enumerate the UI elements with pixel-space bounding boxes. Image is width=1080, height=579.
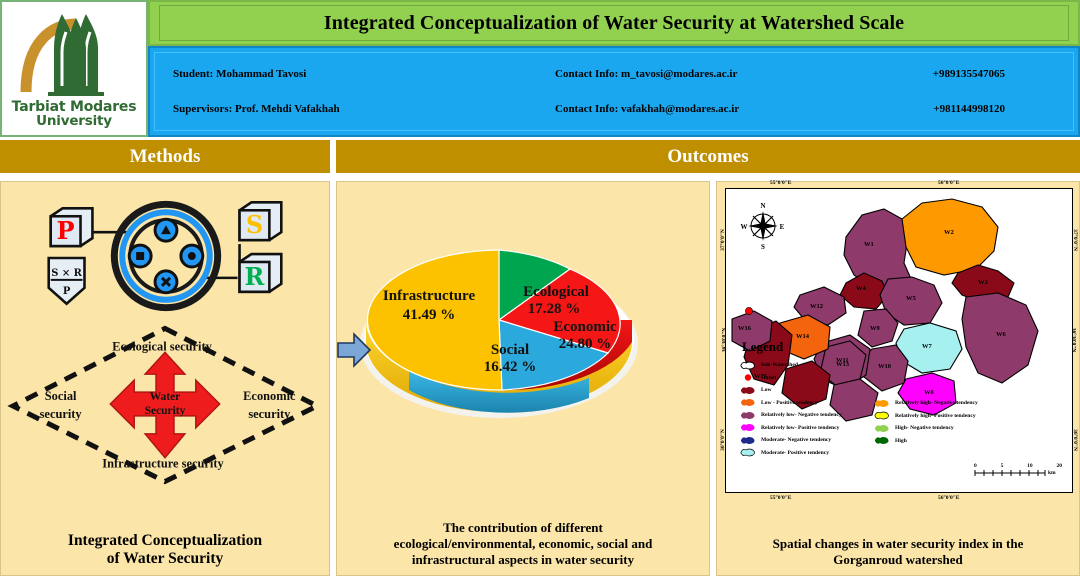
rel-low-positive-swatch-icon	[740, 423, 756, 432]
pie-label-economic-value: 24.80 %	[559, 336, 612, 352]
diamond-center-line2: Security	[145, 405, 186, 417]
pie-label-social-value: 16.42 %	[484, 359, 537, 375]
map-scalebar: 0 5 10 20	[974, 463, 1062, 476]
sub-watershed-swatch-icon	[740, 361, 756, 370]
pie-chart-caption: The contribution of different ecological…	[337, 520, 709, 575]
pie-caption-line2: ecological/environmental, economic, soci…	[343, 536, 703, 552]
central-hub-icon	[114, 204, 217, 307]
legend-item: Relatively low- Negative tendency	[740, 409, 842, 422]
shield-sr-over-p-icon: S × R P	[49, 258, 85, 304]
map-coord-top-left: 55°0'0"E	[770, 180, 791, 186]
cube-r-icon: R	[240, 254, 282, 292]
map-label-w12: W12	[810, 303, 823, 310]
map-label-w4: W4	[856, 285, 866, 292]
pie-label-ecological-value: 17.28 %	[528, 301, 581, 317]
water-security-diamond-diagram: Water Security Ecological security Socia…	[1, 322, 329, 487]
diamond-left-label-2: security	[40, 407, 83, 421]
map-caption: Spatial changes in water security index …	[717, 536, 1079, 575]
map-caption-line2: Gorganroud watershed	[723, 552, 1073, 568]
pie-label-ecological-name: Ecological	[523, 284, 589, 300]
map-coord-top-right: 56°0'0"E	[938, 180, 959, 186]
map-label-w7: W7	[922, 343, 932, 350]
diamond-left-label-1: Social	[45, 389, 77, 403]
legend-item: Relatively low- Positive tendency	[740, 422, 842, 435]
section-outcomes: Outcomes	[336, 140, 1080, 173]
rel-low-negative-swatch-icon	[740, 411, 756, 420]
scalebar-tick-20: 20	[1056, 463, 1062, 469]
svg-text:P: P	[63, 286, 71, 297]
contact-row: Supervisors: Prof. Mehdi Vafakhah Contac…	[155, 103, 1073, 115]
pie-caption-line3: infrastructural aspects in water securit…	[343, 552, 703, 568]
svg-text:P: P	[57, 217, 75, 245]
legend-label: Relatively low- Positive tendency	[761, 425, 839, 431]
pie-label-economic-name: Economic	[553, 319, 617, 335]
psr-framework-diagram: P S × R P	[1, 186, 329, 331]
svg-text:S: S	[246, 211, 263, 239]
pie-chart: Ecological 17.28 % Economic 24.80 % Soci…	[349, 192, 649, 442]
supervisor-name: Supervisors: Prof. Mehdi Vafakhah	[155, 103, 555, 115]
flow-arrow-right-icon	[336, 330, 372, 370]
student-email[interactable]: Contact Info: m_tavosi@modares.ac.ir	[555, 68, 885, 80]
scalebar-graphic-icon	[974, 469, 1046, 476]
poster-header: Tarbiat Modares University Integrated Co…	[0, 0, 1080, 137]
legend-label: High	[895, 438, 907, 444]
legend-item: High- Negative tendency	[874, 422, 978, 435]
section-methods: Methods	[0, 140, 330, 173]
map-label-w6: W6	[996, 331, 1006, 338]
legend-item: Relatively high- Negative tendency	[874, 397, 978, 410]
legend-label: Relatively high- Negative tendency	[895, 400, 978, 406]
supervisor-phone: +981144998120	[885, 103, 1015, 115]
panel-map: 55°0'0"E 56°0'0"E 55°0'0"E 56°0'0"E 37°0…	[716, 181, 1080, 576]
contact-bar: Student: Mohammad Tavosi Contact Info: m…	[148, 46, 1080, 137]
map-frame: 55°0'0"E 56°0'0"E 55°0'0"E 56°0'0"E 37°0…	[726, 189, 1072, 492]
map-label-w5: W5	[906, 295, 916, 302]
svg-text:S × R: S × R	[51, 268, 82, 279]
legend-label: Low	[761, 387, 772, 393]
map-coord-left-top: 37°0'0"N	[720, 229, 726, 251]
legend-label: Sub-Watershed	[761, 362, 798, 368]
map-legend-column-1: Sub-Watershed Outlet Low Low - Posi	[740, 359, 842, 459]
section-methods-label: Methods	[130, 146, 201, 168]
map-coord-bottom-left: 55°0'0"E	[770, 495, 791, 501]
concept-diagram-body: P S × R P	[1, 182, 329, 532]
map-label-w8: W8	[924, 389, 934, 396]
diamond-bottom-label: Infrastructure security	[102, 457, 224, 471]
rel-high-negative-swatch-icon	[874, 399, 890, 408]
pie-label-infrastructure-value: 41.49 %	[403, 307, 456, 323]
legend-label: Relatively low- Negative tendency	[761, 412, 842, 418]
legend-item: Low	[740, 384, 842, 397]
scalebar-bar: km	[974, 469, 1062, 476]
subwatershed-w2[interactable]	[902, 199, 998, 275]
pie-chart-body: Ecological 17.28 % Economic 24.80 % Soci…	[337, 182, 709, 520]
legend-label: Relatively high- Positive tendency	[895, 413, 976, 419]
moderate-positive-swatch-icon	[740, 448, 756, 457]
diamond-center-line1: Water	[150, 391, 180, 403]
legend-label: High- Negative tendency	[895, 425, 954, 431]
pie-label-infrastructure-name: Infrastructure	[383, 288, 476, 304]
moderate-negative-swatch-icon	[740, 436, 756, 445]
diamond-right-label-2: security	[248, 407, 291, 421]
university-name: Tarbiat Modares University	[12, 100, 137, 128]
low-positive-swatch-icon	[740, 398, 756, 407]
gorganroud-watershed-map[interactable]: 55°0'0"E 56°0'0"E 55°0'0"E 56°0'0"E 37°0…	[725, 188, 1073, 493]
high-negative-swatch-icon	[874, 424, 890, 433]
legend-item: Sub-Watershed	[740, 359, 842, 372]
header-right: Integrated Conceptualization of Water Se…	[148, 0, 1080, 137]
contact-row: Student: Mohammad Tavosi Contact Info: m…	[155, 68, 1073, 80]
map-label-w3: W3	[978, 279, 988, 286]
concept-caption-line1: Integrated Conceptualization	[7, 532, 323, 550]
map-label-w14: W14	[796, 333, 809, 340]
legend-item: Relatively high- Positive tendency	[874, 410, 978, 423]
section-header-bars: Methods Outcomes	[0, 140, 1080, 173]
high-swatch-icon	[874, 436, 890, 445]
panels-row: P S × R P	[0, 181, 1080, 576]
pie-caption-line1: The contribution of different	[343, 520, 703, 536]
cube-s-icon: S	[240, 202, 282, 240]
section-outcomes-label: Outcomes	[667, 146, 748, 168]
legend-item: Outlet	[740, 372, 842, 385]
contact-inner: Student: Mohammad Tavosi Contact Info: m…	[154, 52, 1074, 131]
legend-item: High	[874, 435, 978, 448]
diamond-right-label-1: Economic	[243, 389, 296, 403]
concept-diagram-caption: Integrated Conceptualization of Water Se…	[1, 532, 329, 575]
page-title: Integrated Conceptualization of Water Se…	[324, 12, 904, 35]
outlet-swatch-icon	[740, 373, 756, 382]
legend-label: Outlet	[761, 375, 776, 381]
map-label-w2: W2	[944, 229, 954, 236]
map-label-w9: W9	[870, 325, 880, 332]
poster-title-inner: Integrated Conceptualization of Water Se…	[159, 5, 1068, 41]
map-label-w16: W16	[738, 325, 751, 332]
legend-item: Moderate- Negative tendency	[740, 434, 842, 447]
map-caption-line1: Spatial changes in water security index …	[723, 536, 1073, 552]
map-coord-left-bottom: 36°0'0"N	[720, 429, 726, 451]
outlet-marker-icon	[745, 307, 752, 314]
map-label-w1: W1	[864, 241, 874, 248]
panel-concept-diagram: P S × R P	[0, 181, 330, 576]
student-phone: +989135547065	[885, 68, 1015, 80]
scalebar-unit: km	[1048, 470, 1056, 476]
student-name: Student: Mohammad Tavosi	[155, 68, 555, 80]
cube-p-icon: P	[51, 208, 93, 246]
low-swatch-icon	[740, 386, 756, 395]
university-emblem-icon	[14, 8, 134, 100]
pie-label-social-name: Social	[491, 342, 529, 358]
svg-text:R: R	[245, 263, 265, 291]
rel-high-positive-swatch-icon	[874, 411, 890, 420]
university-logo: Tarbiat Modares University	[0, 0, 148, 137]
concept-caption-line2: of Water Security	[7, 550, 323, 568]
panel-pie-chart: Ecological 17.28 % Economic 24.80 % Soci…	[336, 181, 710, 576]
map-coord-bottom-right: 56°0'0"E	[938, 495, 959, 501]
university-name-line2: University	[12, 114, 137, 128]
legend-label: Moderate- Positive tendency	[761, 450, 829, 456]
map-label-w10: W10	[878, 363, 891, 370]
legend-item: Low - Positive tendency	[740, 397, 842, 410]
legend-label: Low - Positive tendency	[761, 400, 818, 406]
legend-label: Moderate- Negative tendency	[761, 437, 831, 443]
legend-item: Moderate- Positive tendency	[740, 447, 842, 460]
map-legend-title: Legend	[742, 339, 783, 355]
poster-title-bar: Integrated Conceptualization of Water Se…	[148, 0, 1080, 46]
subwatershed-w6[interactable]	[962, 293, 1038, 383]
supervisor-email[interactable]: Contact Info: vafakhah@modares.ac.ir	[555, 103, 885, 115]
map-legend-column-2: Relatively high- Negative tendency Relat…	[874, 397, 978, 447]
pie-chart-svg: Ecological 17.28 % Economic 24.80 % Soci…	[349, 192, 649, 442]
diamond-top-label: Ecological security	[112, 339, 212, 353]
map-body: 55°0'0"E 56°0'0"E 55°0'0"E 56°0'0"E 37°0…	[717, 182, 1079, 536]
